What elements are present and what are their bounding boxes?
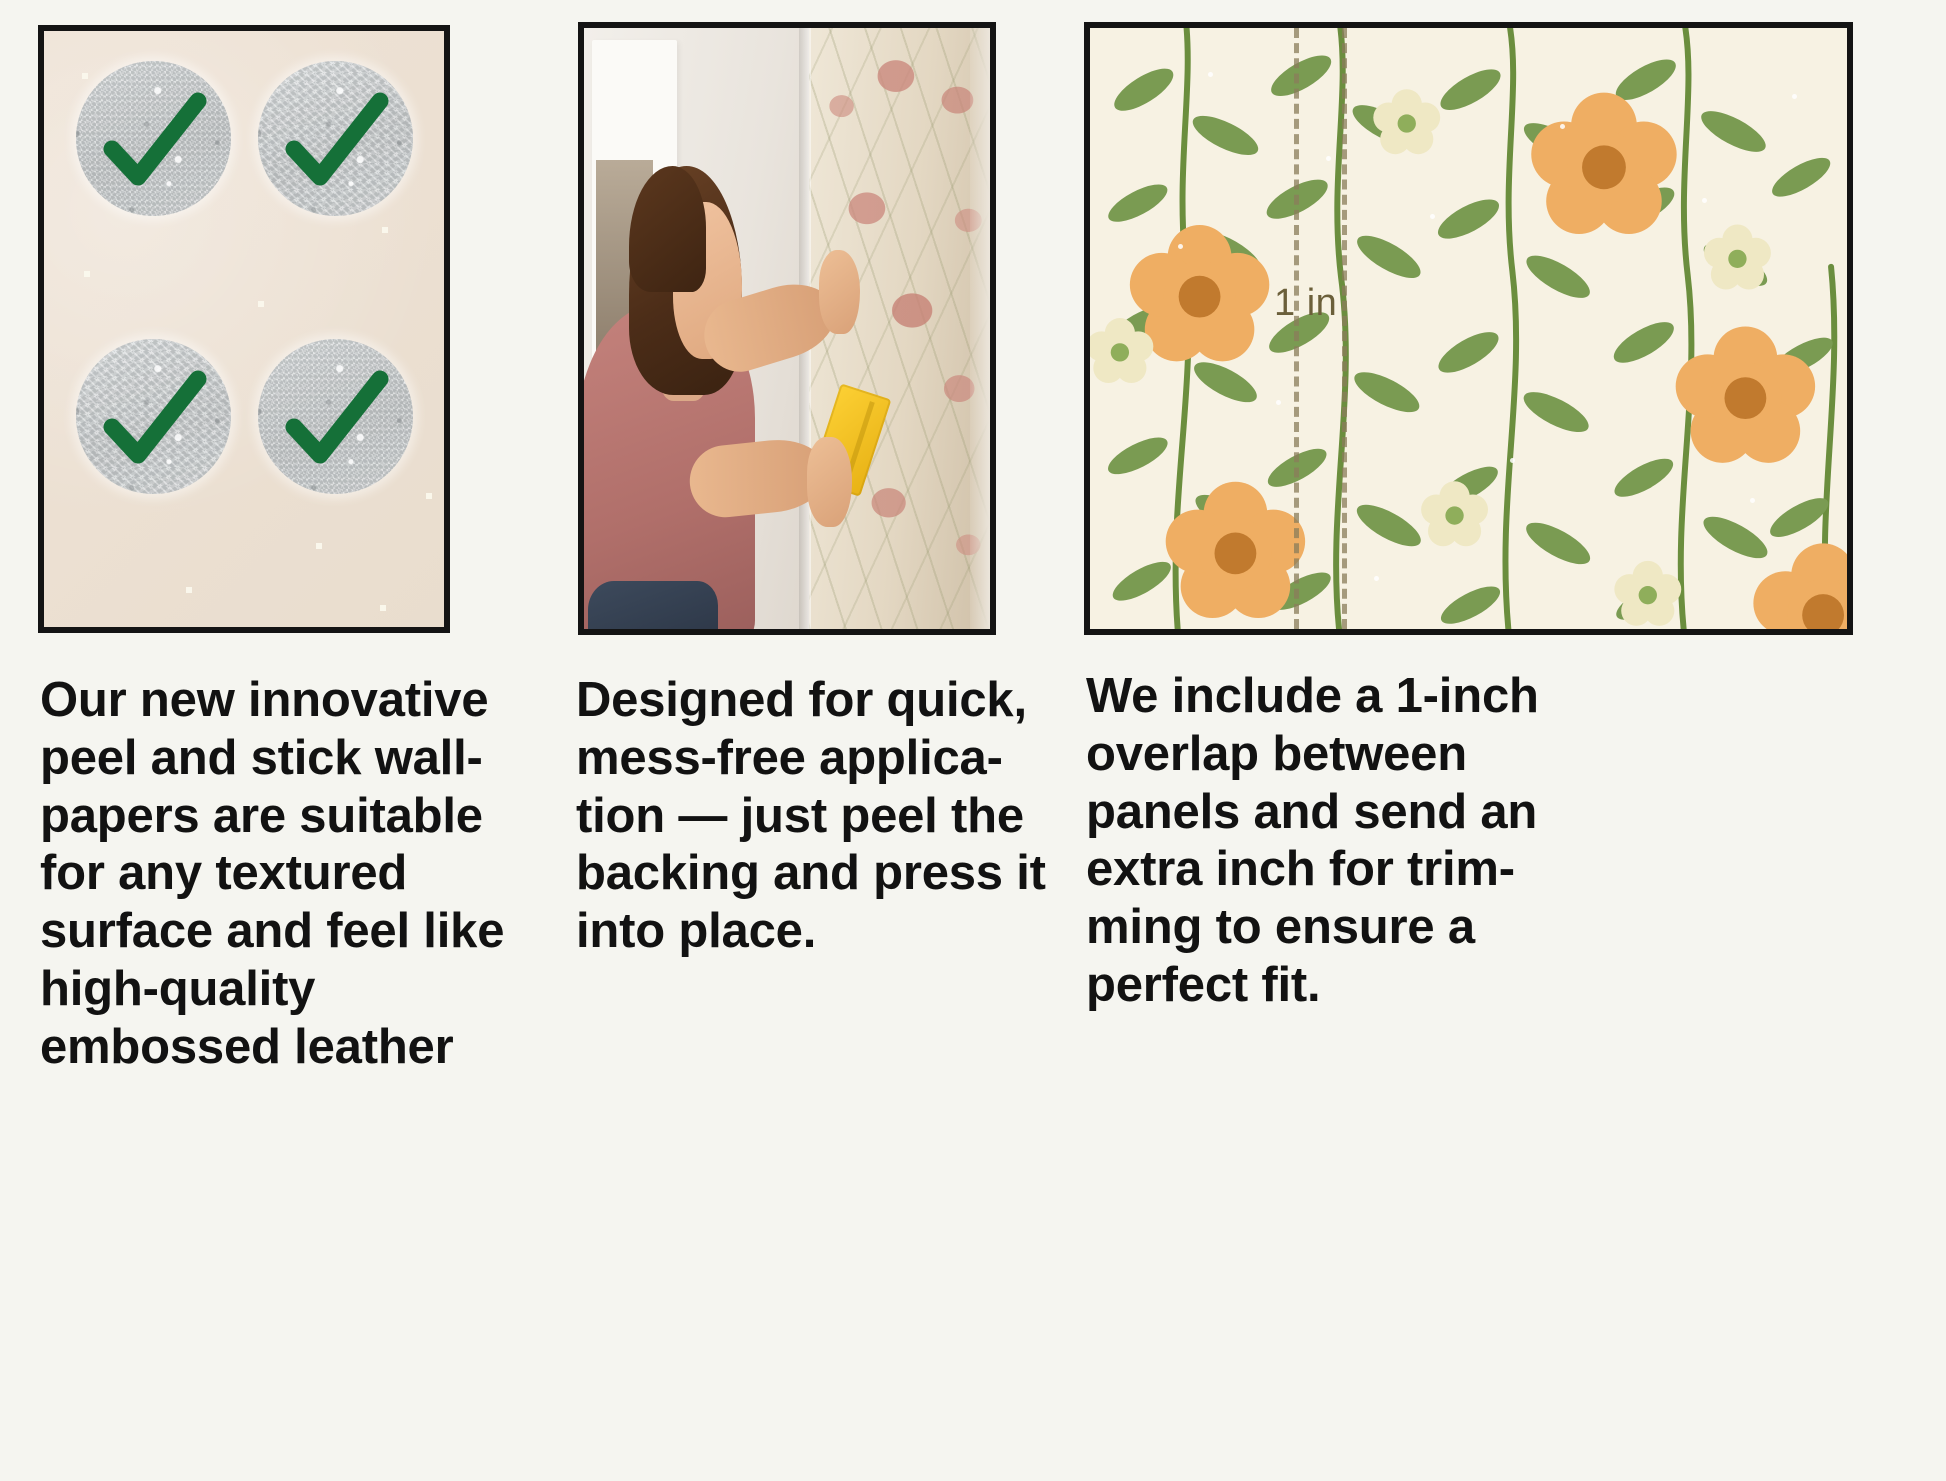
speck [84, 271, 90, 277]
speck [1702, 198, 1707, 203]
person-lower-hand [807, 437, 852, 527]
overlap-guide-line-left [1294, 28, 1299, 629]
speck [1430, 214, 1435, 219]
speck [1510, 458, 1515, 463]
textured-surface-checkmarks-image [38, 25, 450, 633]
speck [426, 493, 432, 499]
textured-circle-check [76, 339, 231, 494]
speck [316, 543, 322, 549]
speck [1326, 156, 1331, 161]
wallpaper-application-photo [578, 22, 996, 635]
person-jeans [588, 581, 718, 635]
speck [1374, 576, 1379, 581]
panel-overlap-diagram: 1 in [1084, 22, 1853, 635]
speck [380, 605, 386, 611]
caption-quick-application: Designed for quick, mess-free applica-ti… [576, 672, 1046, 961]
floral-pattern [1090, 28, 1847, 629]
speck [186, 587, 192, 593]
overlap-measurement-label: 1 in [1274, 284, 1337, 322]
speck [1792, 94, 1797, 99]
speck [1208, 72, 1213, 77]
textured-circle-check [76, 61, 231, 216]
feature-panels-board: 1 in Our new innovative peel and stick w… [0, 0, 1946, 1481]
check-icon [258, 61, 413, 216]
speck [382, 227, 388, 233]
check-icon [76, 339, 231, 494]
speck [258, 301, 264, 307]
check-icon [258, 339, 413, 494]
speck [1750, 498, 1755, 503]
check-icon [76, 61, 231, 216]
person-upper-hand [819, 250, 860, 334]
caption-textured-surfaces: Our new innovative peel and stick wall-p… [40, 672, 510, 1077]
speck [1276, 400, 1281, 405]
textured-circle-check [258, 61, 413, 216]
wall-right-edge [970, 28, 990, 629]
textured-circle-check [258, 339, 413, 494]
caption-overlap-trimming: We include a 1-inch overlap between pane… [1086, 668, 1586, 1015]
speck [1178, 244, 1183, 249]
overlap-guide-line-right [1342, 28, 1347, 629]
speck [1560, 124, 1565, 129]
